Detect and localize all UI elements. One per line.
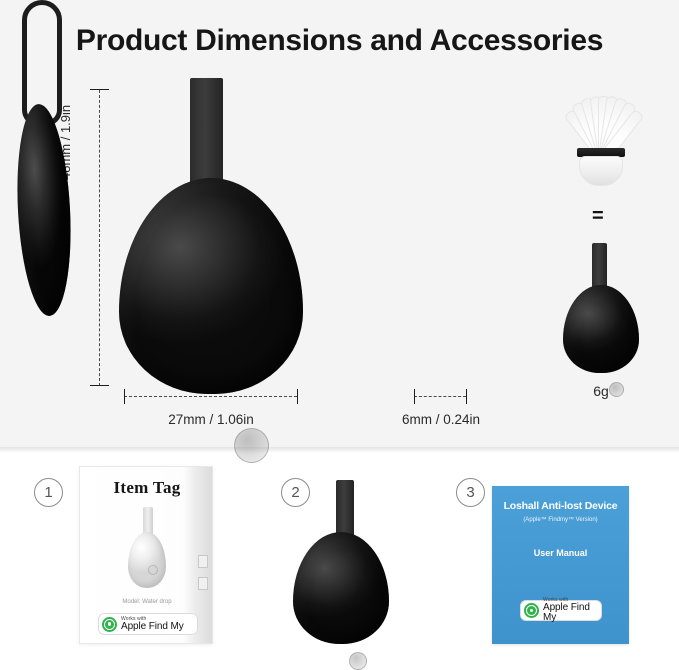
weight-label: 6g — [561, 383, 641, 399]
side-width-cap-right — [466, 389, 467, 404]
box-tag-button-icon — [148, 565, 158, 575]
accessory-number-3: 3 — [456, 478, 485, 507]
accessory-number-1: 1 — [34, 478, 63, 507]
box-tag-body — [128, 532, 166, 588]
badge-name: Apple Find My — [543, 603, 595, 623]
tag-body — [119, 178, 303, 394]
box-title: Item Tag — [80, 478, 214, 498]
box-slot — [198, 577, 208, 590]
front-width-cap-left — [124, 389, 125, 404]
product-front-view — [116, 78, 306, 398]
tag-button-icon — [349, 652, 367, 670]
user-manual: Loshall Anti-lost Device (Apple™ Findmy™… — [492, 486, 629, 644]
retail-box: Item Tag Model: Water drop Works with Ap… — [79, 466, 213, 644]
height-dimension-line — [99, 90, 101, 386]
side-width-label: 6mm / 0.24in — [370, 412, 512, 427]
front-width-cap-right — [297, 389, 298, 404]
height-dimension-cap-bottom — [90, 385, 109, 386]
shuttlecock-cork — [579, 156, 623, 186]
badge-name: Apple Find My — [121, 622, 184, 632]
box-model-text: Model: Water drop — [80, 599, 214, 605]
find-my-inner-ring — [526, 605, 537, 616]
front-width-dimension-line — [124, 396, 297, 398]
badge-text: Works with Apple Find My — [543, 598, 595, 623]
tag-body — [563, 285, 639, 373]
shuttlecock-icon — [557, 86, 645, 188]
find-my-inner-ring — [104, 619, 115, 630]
tag-body — [293, 532, 389, 644]
product-infographic: Product Dimensions and Accessories 48mm … — [0, 0, 679, 654]
tag-button-icon — [234, 428, 269, 463]
find-my-center-dot — [530, 609, 534, 613]
accessory-item-tag — [291, 480, 391, 645]
find-my-logo-icon — [102, 617, 117, 632]
apple-find-my-badge: Works with Apple Find My — [520, 600, 602, 621]
height-dimension-cap-top — [90, 89, 109, 90]
page-title: Product Dimensions and Accessories — [0, 24, 679, 58]
box-side-slots — [198, 555, 208, 599]
box-product-illustration — [124, 507, 170, 593]
apple-find-my-badge: Works with Apple Find My — [98, 613, 198, 635]
tag-strap — [336, 480, 354, 540]
product-weight-comparison-view — [562, 243, 640, 373]
find-my-logo-icon — [524, 603, 539, 618]
front-width-label: 27mm / 1.06in — [104, 412, 318, 427]
side-width-cap-left — [414, 389, 415, 404]
box-slot — [198, 555, 208, 568]
manual-section-label: User Manual — [492, 548, 629, 558]
badge-text: Works with Apple Find My — [121, 617, 184, 632]
tag-strap — [190, 78, 223, 194]
side-width-dimension-line — [414, 396, 466, 398]
manual-title: Loshall Anti-lost Device — [492, 500, 629, 512]
find-my-center-dot — [108, 622, 112, 626]
manual-subtitle: (Apple™ Findmy™ Version) — [492, 517, 629, 523]
equals-sign: = — [592, 206, 604, 226]
